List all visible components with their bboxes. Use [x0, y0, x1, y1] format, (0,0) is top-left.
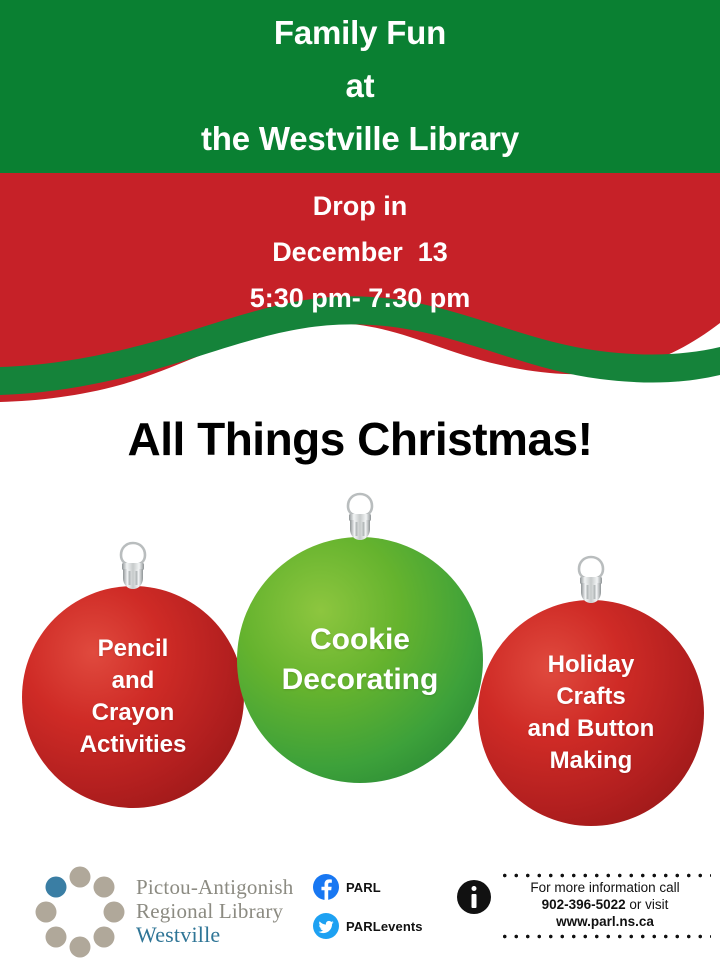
poster-footer: Pictou-Antigonish Regional Library Westv…	[0, 862, 720, 960]
social-links: PARL PARLevents	[313, 874, 423, 952]
info-phone: 902-396-5022	[542, 897, 626, 912]
contact-info: For more information call 902-396-5022 o…	[457, 870, 711, 940]
ornament-ball: Holiday Crafts and Button Making	[478, 600, 704, 826]
poster-slogan: All Things Christmas!	[0, 411, 720, 467]
twitter-handle: PARLevents	[346, 919, 423, 934]
ornament-label: Pencil and Crayon Activities	[68, 633, 199, 762]
facebook-icon[interactable]	[313, 874, 339, 900]
social-link-facebook[interactable]: PARL	[313, 874, 423, 900]
event-details-text: Drop in December 13 5:30 pm- 7:30 pm	[0, 173, 720, 321]
header-line-2: at	[346, 59, 375, 112]
info-line-2-tail: or visit	[626, 897, 669, 912]
poster-header: Family Fun at the Westville Library	[0, 0, 720, 173]
info-website: www.parl.ns.ca	[499, 913, 711, 930]
header-line-1: Family Fun	[274, 6, 446, 59]
event-date: December 13	[272, 229, 448, 275]
information-icon	[457, 880, 491, 914]
ornament-ball: Pencil and Crayon Activities	[22, 586, 244, 808]
info-line-2: 902-396-5022 or visit	[499, 896, 711, 913]
social-link-twitter[interactable]: PARLevents	[313, 913, 423, 939]
facebook-handle: PARL	[346, 880, 381, 895]
ornament-cap-icon	[116, 540, 150, 592]
event-time: 5:30 pm- 7:30 pm	[250, 275, 471, 321]
event-line-1: Drop in	[313, 183, 408, 229]
logo-line-1: Pictou-Antigonish	[136, 876, 293, 900]
parl-logo-icon	[34, 866, 126, 958]
ornament-cap-icon	[574, 554, 608, 606]
dotted-divider-bottom	[499, 933, 711, 940]
contact-info-text: For more information call 902-396-5022 o…	[499, 870, 711, 940]
twitter-icon[interactable]	[313, 913, 339, 939]
poster-canvas: Family Fun at the Westville Library Drop…	[0, 0, 720, 960]
ornament-cap-icon	[343, 491, 377, 543]
ornament-label: Holiday Crafts and Button Making	[516, 649, 667, 778]
dotted-divider-top	[499, 872, 711, 879]
header-line-3: the Westville Library	[201, 112, 519, 165]
logo-branch-name: Westville	[136, 923, 293, 948]
library-logo: Pictou-Antigonish Regional Library Westv…	[34, 866, 293, 958]
ornament-label: Cookie Decorating	[270, 620, 451, 700]
event-details-band: Drop in December 13 5:30 pm- 7:30 pm	[0, 173, 720, 423]
info-line-1: For more information call	[499, 879, 711, 896]
logo-line-2: Regional Library	[136, 900, 293, 924]
ornament-holiday-crafts-and-button-making: Holiday Crafts and Button Making	[478, 600, 704, 826]
ornament-pencil-and-crayon-activities: Pencil and Crayon Activities	[22, 586, 244, 808]
ornament-cookie-decorating: Cookie Decorating	[237, 537, 483, 783]
library-logo-text: Pictou-Antigonish Regional Library Westv…	[136, 876, 293, 948]
ornament-ball: Cookie Decorating	[237, 537, 483, 783]
